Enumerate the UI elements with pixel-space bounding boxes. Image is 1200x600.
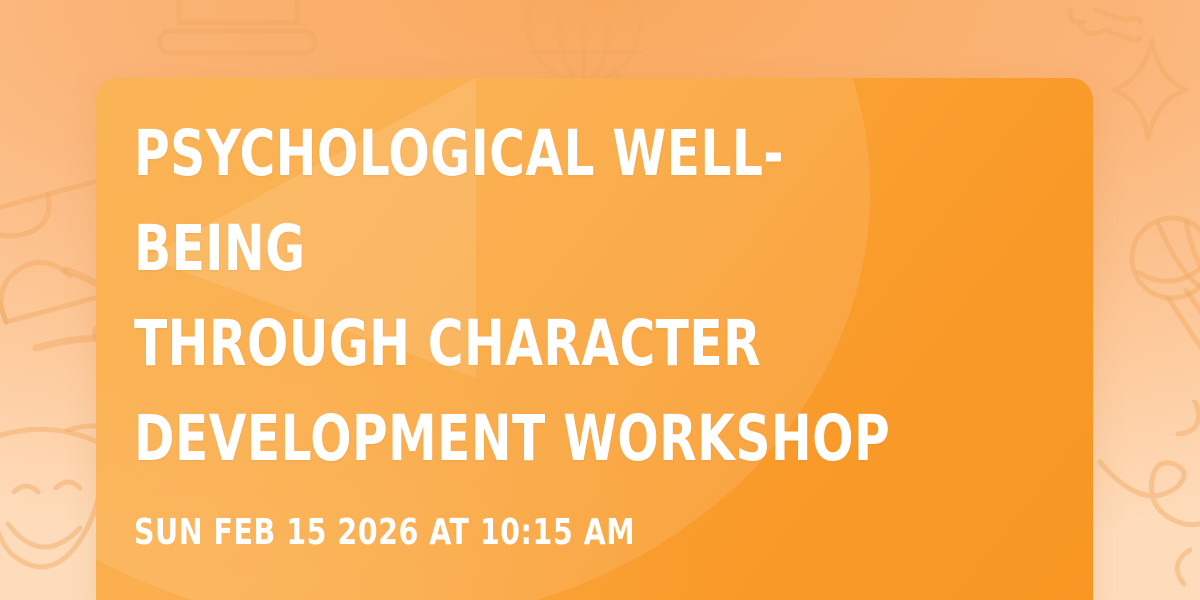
bone-icon	[1064, 8, 1142, 64]
event-card: PSYCHOLOGICAL WELL-BEING THROUGH CHARACT…	[96, 78, 1093, 600]
event-title: PSYCHOLOGICAL WELL-BEING THROUGH CHARACT…	[134, 106, 924, 486]
event-date: SUN FEB 15 2026 AT 10:15 AM	[134, 512, 943, 554]
swirl-icon	[1092, 400, 1200, 590]
sparkle-icon	[1108, 34, 1194, 144]
microphone-icon	[1128, 212, 1200, 412]
event-banner: PSYCHOLOGICAL WELL-BEING THROUGH CHARACT…	[0, 0, 1200, 600]
card-content: PSYCHOLOGICAL WELL-BEING THROUGH CHARACT…	[134, 106, 1053, 554]
